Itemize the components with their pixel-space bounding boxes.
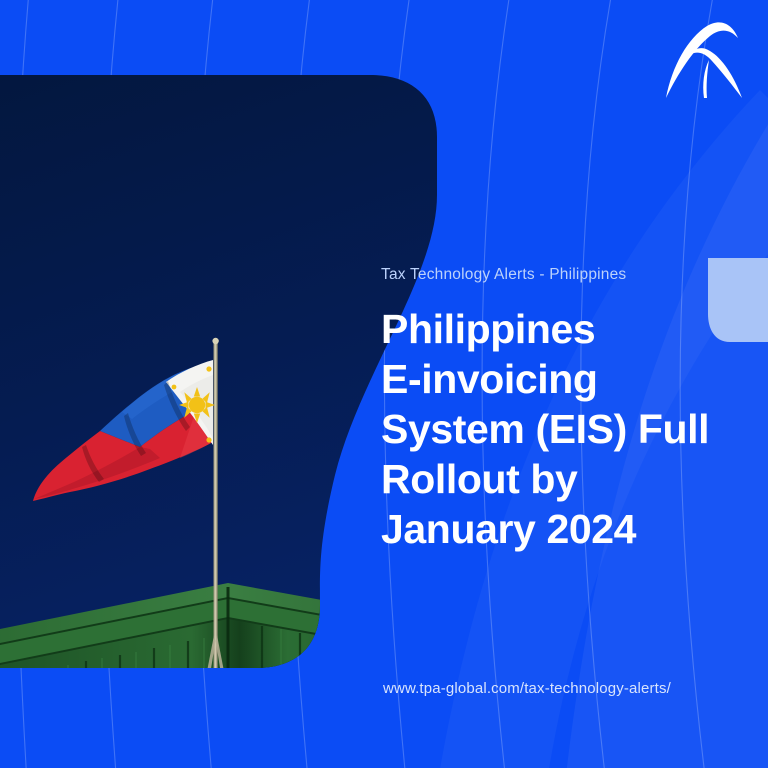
website-url[interactable]: www.tpa-global.com/tax-technology-alerts… [383,680,671,697]
kicker-label: Tax Technology Alerts - Philippines [381,266,741,284]
headline-line: E-invoicing [381,354,741,404]
headline-line: System (EIS) Full [381,404,741,454]
tpa-arc-logo-icon [658,18,750,104]
hero-photo [0,75,440,692]
social-card: Tax Technology Alerts - Philippines Phil… [0,0,768,768]
headline-block: Tax Technology Alerts - Philippines Phil… [381,266,741,554]
headline-line: January 2024 [381,504,741,554]
headline-line: Rollout by [381,454,741,504]
page-title: Philippines E-invoicing System (EIS) Ful… [381,304,741,554]
headline-line: Philippines [381,304,741,354]
